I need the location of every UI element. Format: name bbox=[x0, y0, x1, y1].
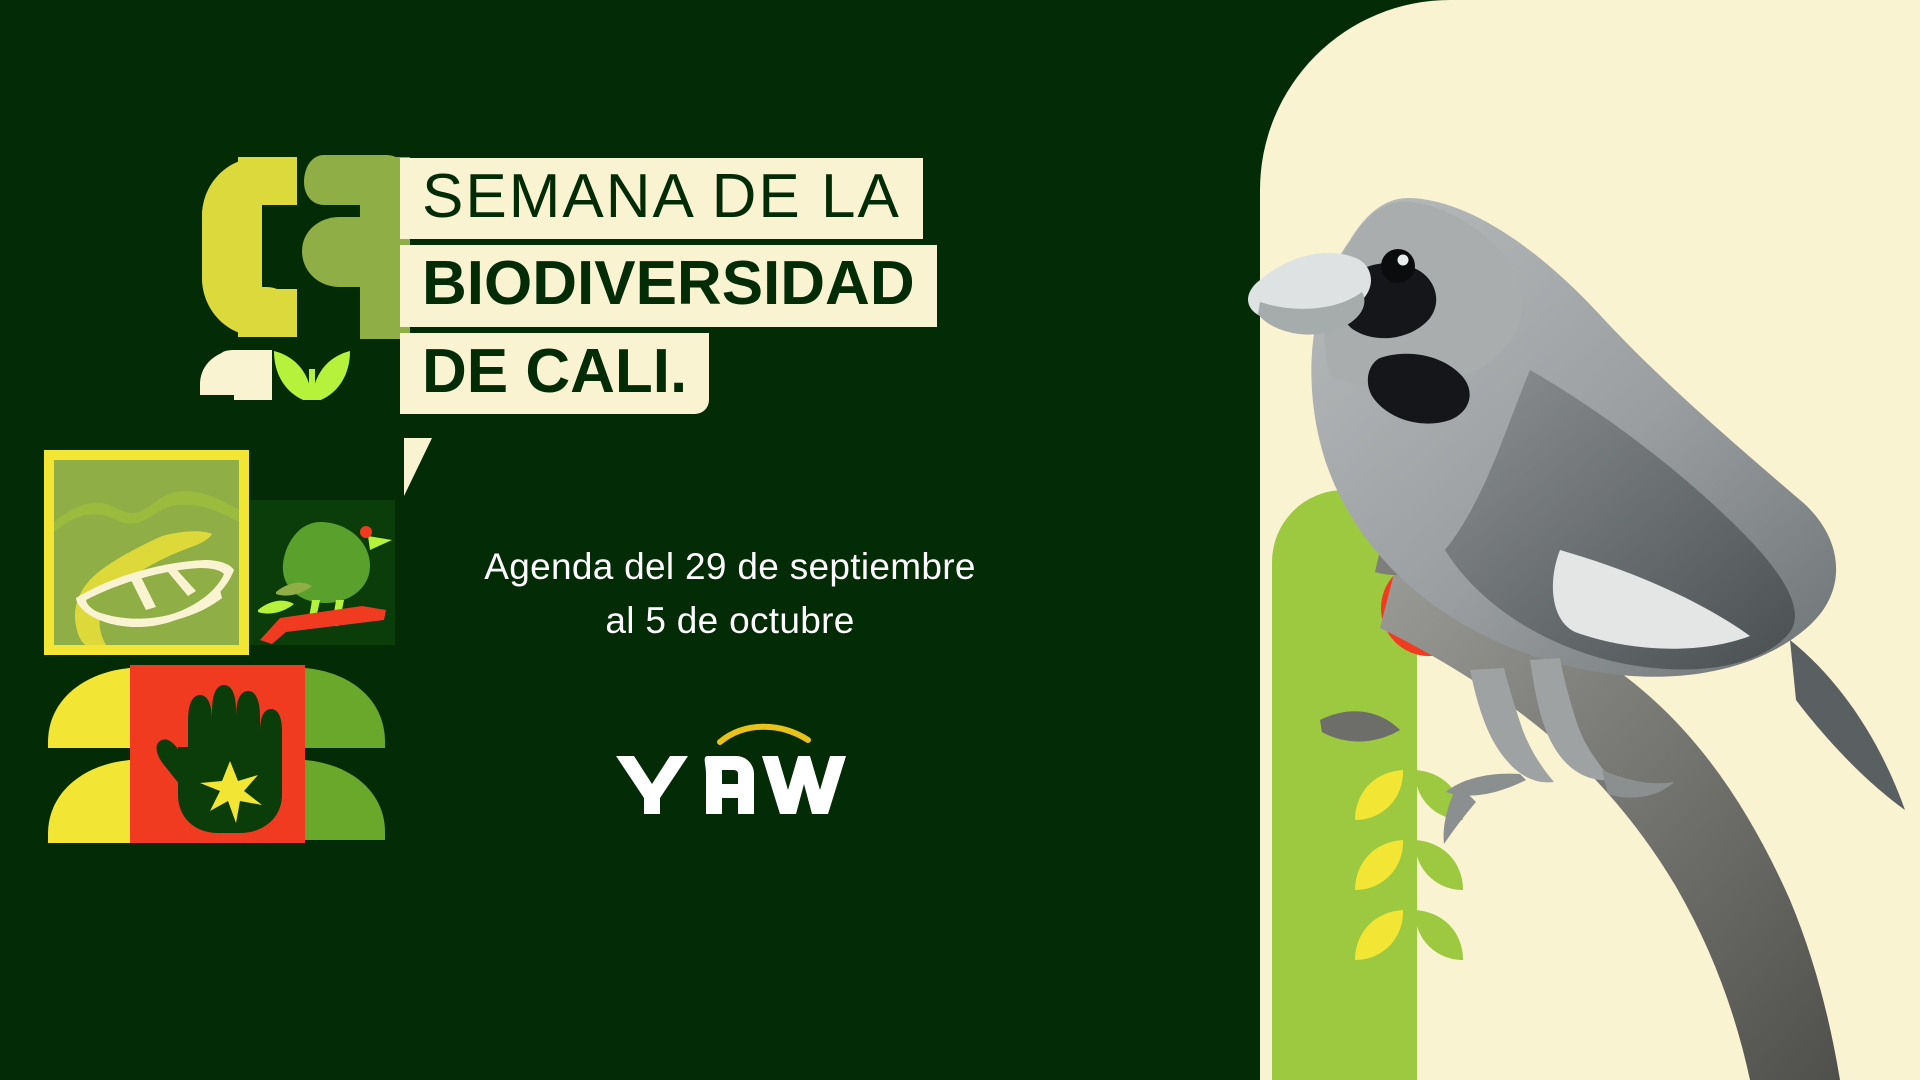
headline-line-3: DE CALI. bbox=[400, 333, 709, 414]
headline-line-1: SEMANA DE LA bbox=[400, 158, 923, 239]
bird-branch-tile bbox=[250, 500, 395, 645]
bird-photo bbox=[1230, 80, 1920, 1080]
agenda-line-1: Agenda del 29 de septiembre bbox=[420, 540, 1040, 594]
headline-line-2: BIODIVERSIDAD bbox=[400, 245, 937, 326]
cali-logo-mark bbox=[200, 155, 415, 400]
yawa-logo bbox=[612, 718, 852, 818]
agenda-subtitle: Agenda del 29 de septiembre al 5 de octu… bbox=[420, 540, 1040, 647]
boat-river-tile bbox=[44, 450, 249, 655]
speech-bubble-tail bbox=[404, 438, 432, 496]
hand-flower-tile bbox=[130, 665, 305, 843]
poster-canvas: SEMANA DE LA BIODIVERSIDAD DE CALI. Agen… bbox=[0, 0, 1920, 1080]
headline-speech-bubble: SEMANA DE LA BIODIVERSIDAD DE CALI. bbox=[400, 158, 1000, 420]
leaf-yellow bbox=[48, 668, 130, 843]
agenda-line-2: al 5 de octubre bbox=[420, 594, 1040, 648]
leaf-green bbox=[305, 668, 385, 840]
